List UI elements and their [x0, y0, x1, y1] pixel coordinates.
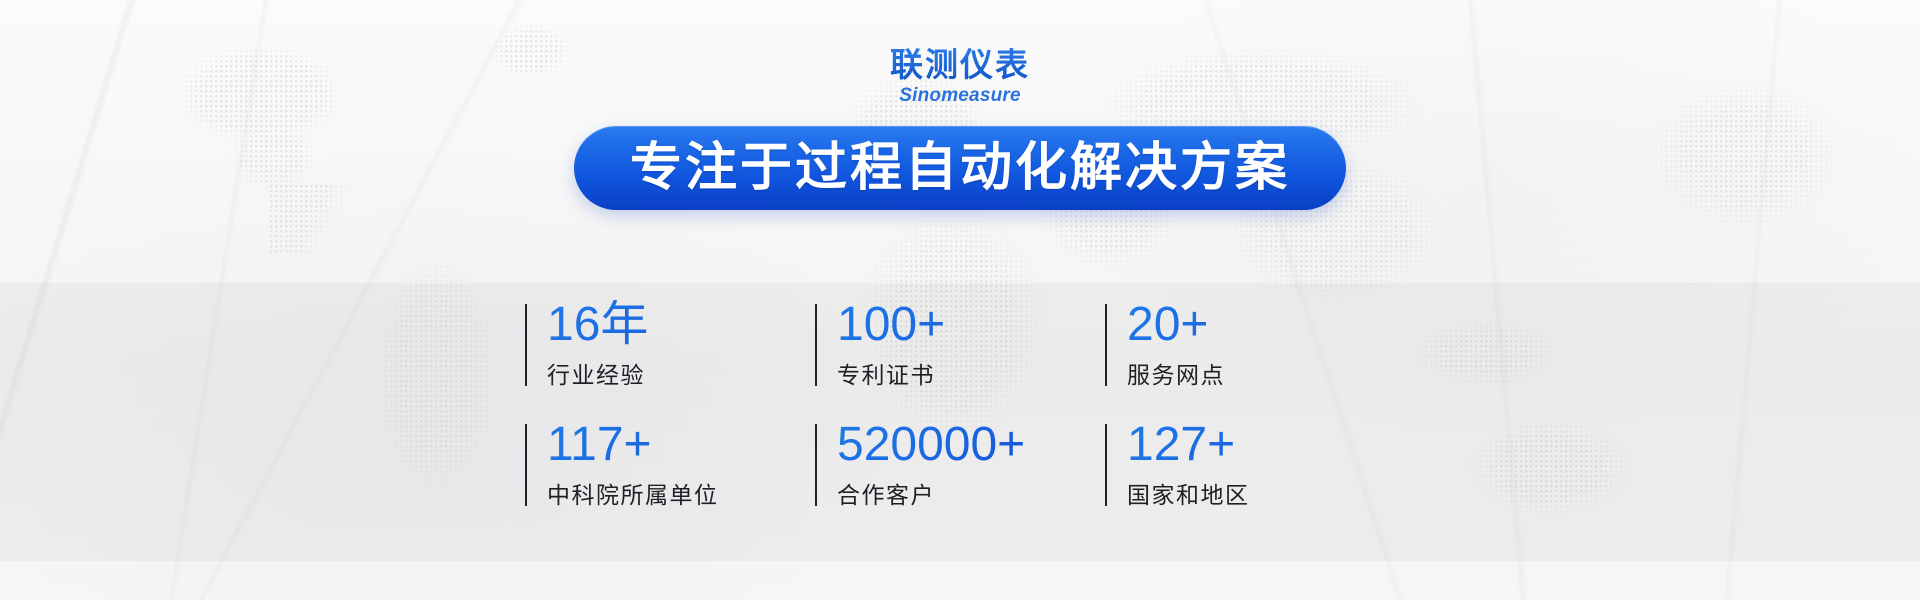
stat-item-countries: 127+ 国家和地区	[1105, 420, 1395, 510]
stat-value: 16年	[547, 300, 815, 350]
stats-section: 16年 行业经验 100+ 专利证书 20+ 服务网点 117+ 中科院所属单位…	[0, 300, 1920, 510]
stat-value: 20+	[1127, 300, 1395, 350]
brand-logo: 联测仪表 Sinomeasure	[0, 48, 1920, 105]
stat-label: 行业经验	[547, 356, 815, 390]
headline-container: 专注于过程自动化解决方案	[0, 126, 1920, 210]
stat-value: 520000+	[837, 420, 1105, 470]
promo-banner: 联测仪表 Sinomeasure 专注于过程自动化解决方案 16年 行业经验 1…	[0, 0, 1920, 600]
stat-label: 服务网点	[1127, 356, 1395, 390]
headline-text: 专注于过程自动化解决方案	[630, 142, 1290, 194]
stat-label: 国家和地区	[1127, 476, 1395, 510]
stat-item-cas-units: 117+ 中科院所属单位	[525, 420, 815, 510]
stat-value: 127+	[1127, 420, 1395, 470]
stat-value: 117+	[547, 420, 815, 470]
stats-row-2: 117+ 中科院所属单位 520000+ 合作客户 127+ 国家和地区	[0, 420, 1920, 510]
stat-item-customers: 520000+ 合作客户	[815, 420, 1105, 510]
brand-name-cn: 联测仪表	[890, 48, 1030, 81]
stat-value: 100+	[837, 300, 1105, 350]
stats-row-1: 16年 行业经验 100+ 专利证书 20+ 服务网点	[0, 300, 1920, 390]
stat-item-years: 16年 行业经验	[525, 300, 815, 390]
stat-label: 中科院所属单位	[547, 476, 815, 510]
stat-item-service-points: 20+ 服务网点	[1105, 300, 1395, 390]
brand-name-en: Sinomeasure	[0, 86, 1920, 105]
headline-pill: 专注于过程自动化解决方案	[574, 126, 1346, 210]
stat-item-patents: 100+ 专利证书	[815, 300, 1105, 390]
stat-label: 合作客户	[837, 476, 1105, 510]
stat-label: 专利证书	[837, 356, 1105, 390]
